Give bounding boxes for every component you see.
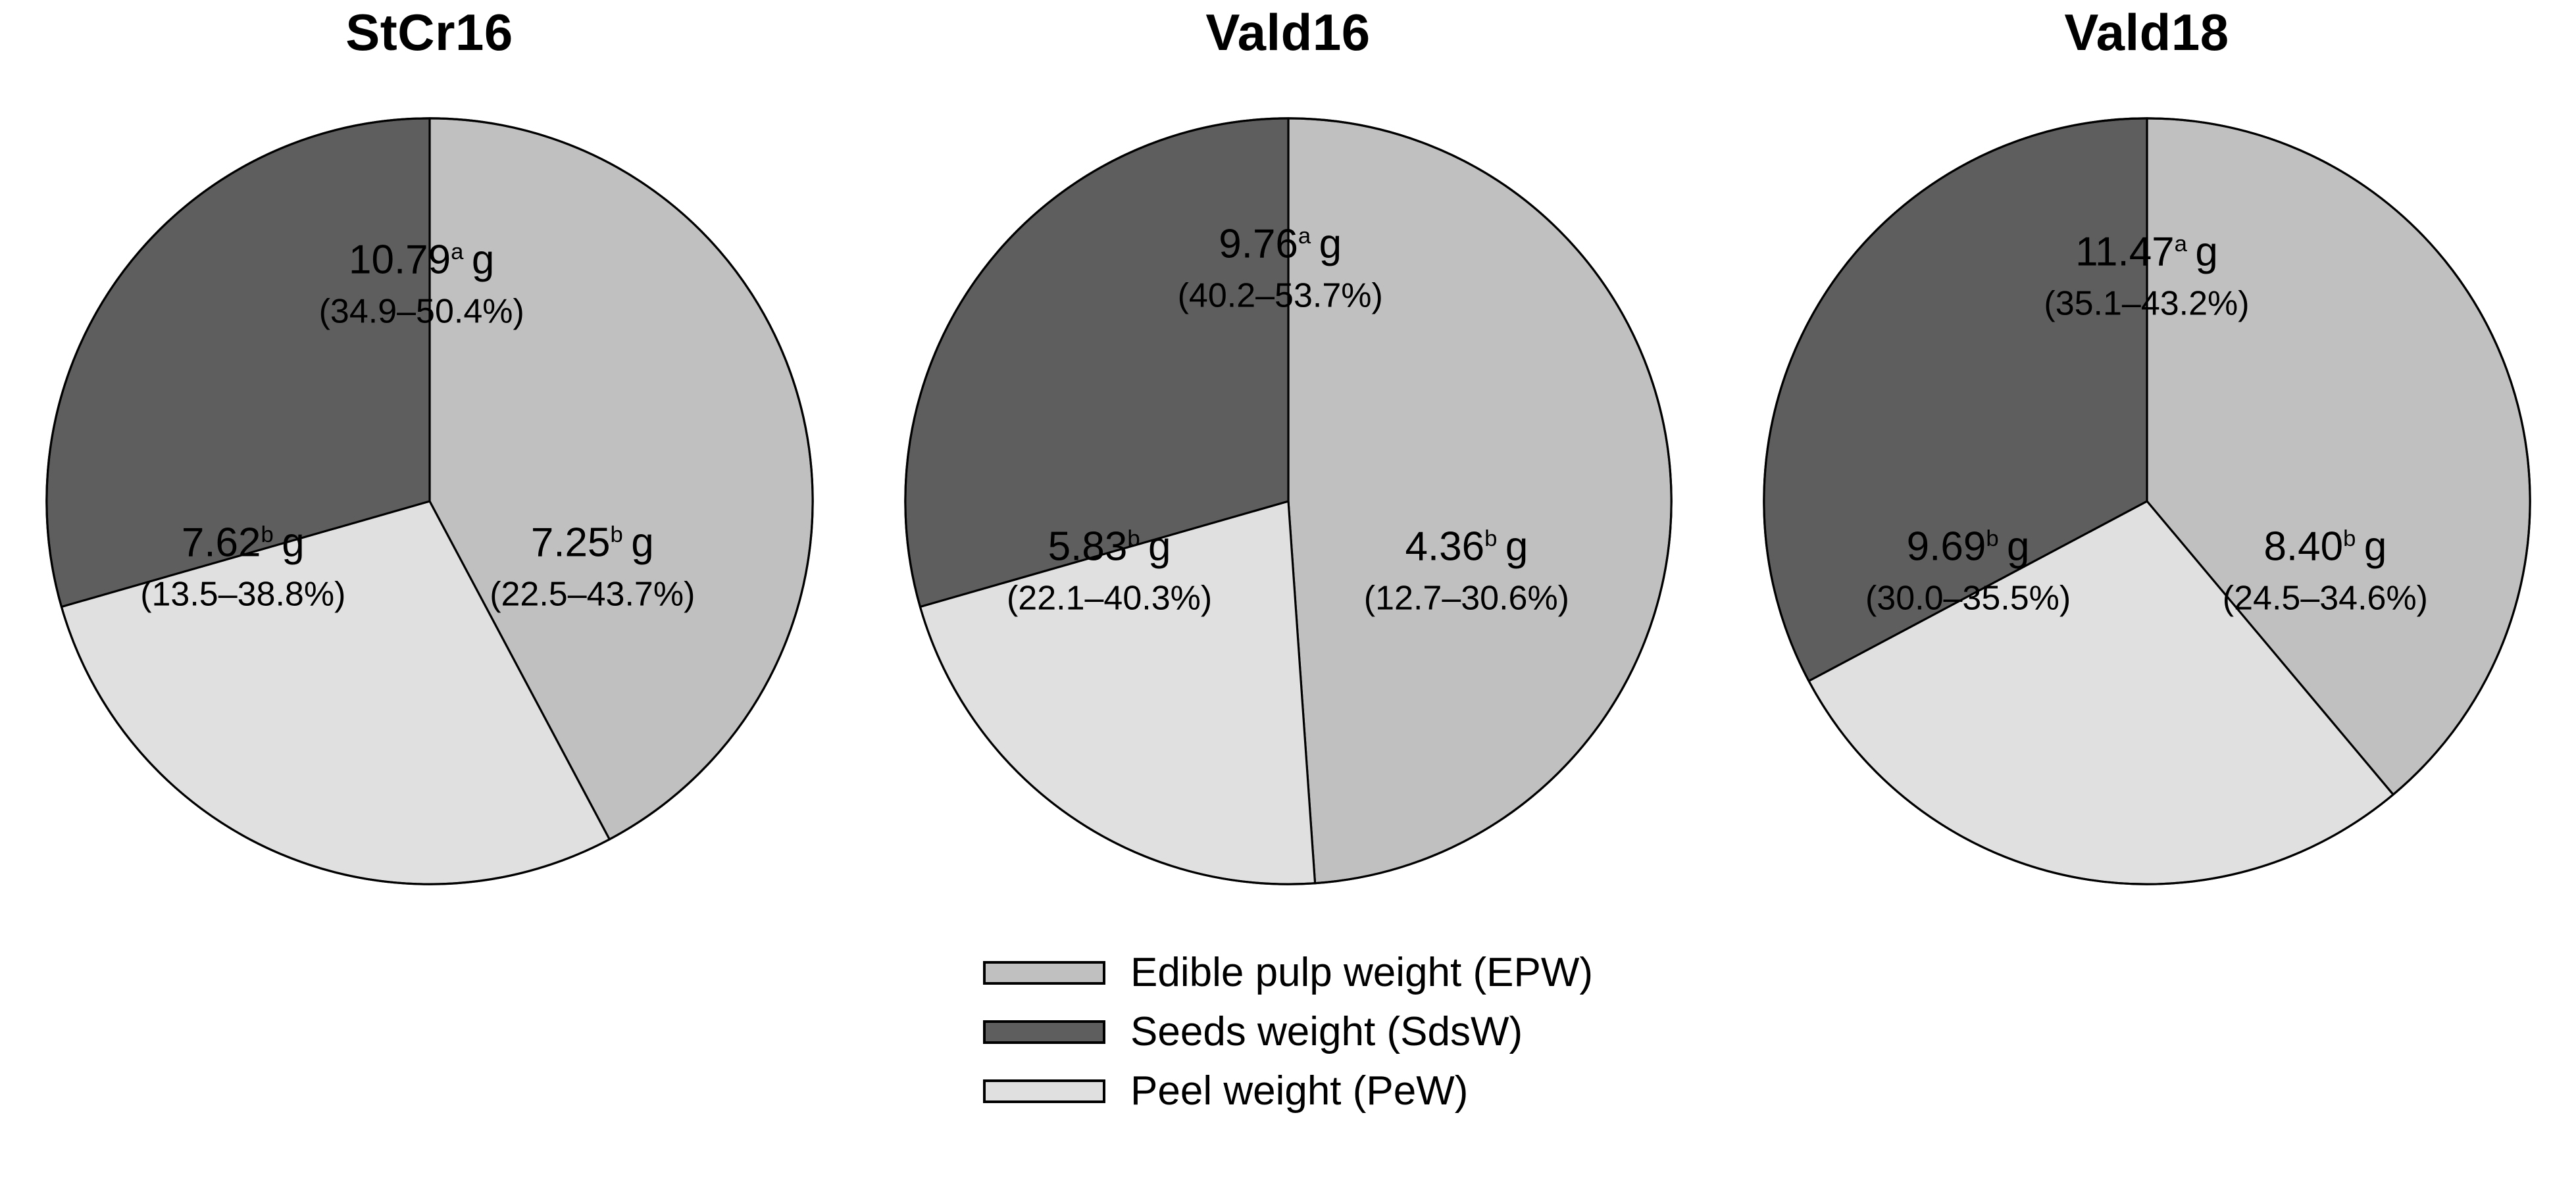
pie-svg: [900, 113, 1677, 889]
legend-item-epw[interactable]: Edible pulp weight (EPW): [983, 952, 1593, 993]
pie-chart-figure: StCr1610.79a g(34.9–50.4%)7.25b g(22.5–4…: [0, 0, 2576, 1186]
panel-title: Vald18: [1717, 7, 2576, 58]
legend-swatch-sdsw: [983, 1020, 1105, 1044]
pie-svg: [1759, 113, 2535, 889]
pie-slice-epw[interactable]: [1288, 118, 1671, 883]
legend-swatch-epw: [983, 961, 1105, 985]
pie-chart: 11.47a g(35.1–43.2%)8.40b g(24.5–34.6%)9…: [1759, 113, 2535, 889]
legend-item-pew[interactable]: Peel weight (PeW): [983, 1071, 1593, 1112]
panel-title: StCr16: [0, 7, 859, 58]
pie-panel-vald16: Vald169.76a g(40.2–53.7%)4.36b g(12.7–30…: [859, 0, 1717, 947]
legend-label-epw: Edible pulp weight (EPW): [1130, 952, 1593, 993]
pie-panel-vald18: Vald1811.47a g(35.1–43.2%)8.40b g(24.5–3…: [1717, 0, 2576, 947]
pie-panels-row: StCr1610.79a g(34.9–50.4%)7.25b g(22.5–4…: [0, 0, 2576, 947]
pie-chart: 9.76a g(40.2–53.7%)4.36b g(12.7–30.6%)5.…: [900, 113, 1677, 889]
pie-panel-stcr16: StCr1610.79a g(34.9–50.4%)7.25b g(22.5–4…: [0, 0, 859, 947]
pie-svg: [41, 113, 818, 889]
chart-legend: Edible pulp weight (EPW)Seeds weight (Sd…: [0, 952, 2576, 1112]
pie-chart: 10.79a g(34.9–50.4%)7.25b g(22.5–43.7%)7…: [41, 113, 818, 889]
legend-label-sdsw: Seeds weight (SdsW): [1130, 1012, 1523, 1052]
panel-title: Vald16: [859, 7, 1717, 58]
legend-swatch-pew: [983, 1079, 1105, 1103]
legend-item-sdsw[interactable]: Seeds weight (SdsW): [983, 1012, 1593, 1052]
legend-label-pew: Peel weight (PeW): [1130, 1071, 1468, 1112]
